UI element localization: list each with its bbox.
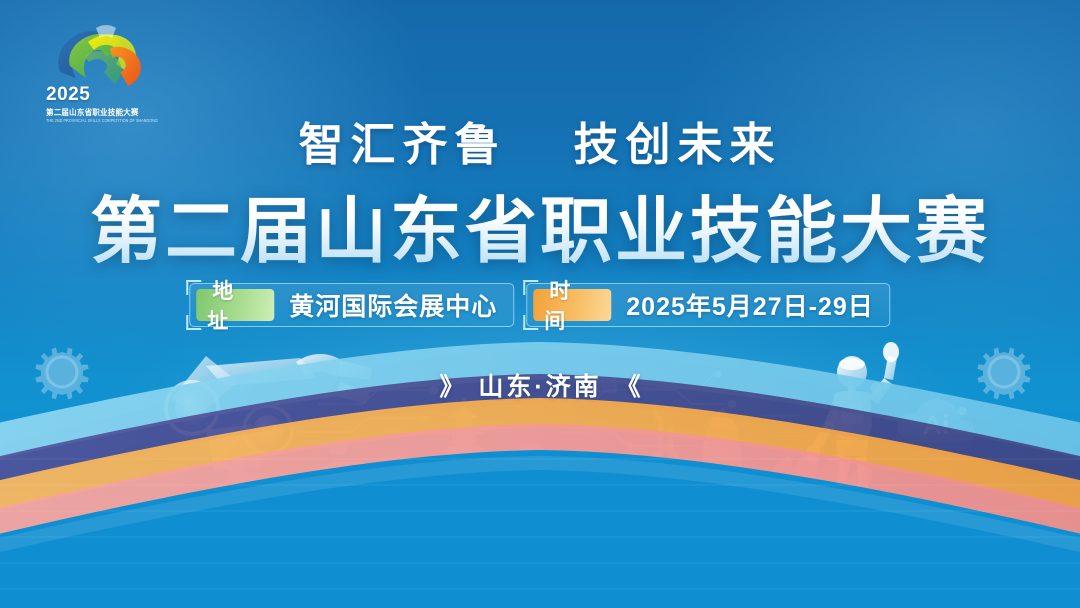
bottom-plate [0,450,1080,608]
page-title: 第二届山东省职业技能大赛 [0,172,1080,277]
ribbon-orange [0,398,1080,524]
event-slogan: 智汇齐鲁 技创未来 [0,108,1080,173]
time-label-pill: 时 间 [533,289,611,321]
event-info-bar: 地 址 黄河国际会展中心 时 间 2025年5月27日-29日 [189,283,890,327]
pavilion [596,442,674,503]
lotus-hall [756,452,884,503]
event-city-line: 》 山东·济南 《 [0,367,1080,403]
tv-tower [654,404,678,502]
skyscraper [700,408,744,502]
ribbon-lightblue [0,342,1080,472]
address-value: 黄河国际会展中心 [289,287,497,323]
time-value: 2025年5月27日-29日 [626,287,873,323]
skyline [398,398,884,503]
ribbon-pink [0,424,1080,552]
address-label-pill: 地 址 [196,289,274,321]
logo-mark [44,22,154,92]
chevron-right-icon: 》 [435,373,468,401]
pagoda [434,398,494,502]
ai-badge-label: Ai [923,410,950,440]
logo-year: 2025 [46,84,90,106]
skyline-wall [398,478,432,502]
event-banner: Ai [0,0,1080,608]
chevron-left-icon: 《 [612,373,645,401]
slogan-right: 技创未来 [574,119,782,170]
archway [482,444,580,503]
sky-glow-lower [0,430,1080,608]
time-info-box: 时 间 2025年5月27日-29日 [526,283,890,327]
car [298,462,444,511]
address-info-box: 地 址 黄河国际会展中心 [189,283,514,327]
slogan-left: 智汇齐鲁 [298,119,506,170]
city-name: 山东·济南 [478,373,601,401]
ai-cloud-badge: Ai [898,399,975,443]
bottom-light-bands [0,458,1080,608]
ground-haze [0,462,1080,540]
